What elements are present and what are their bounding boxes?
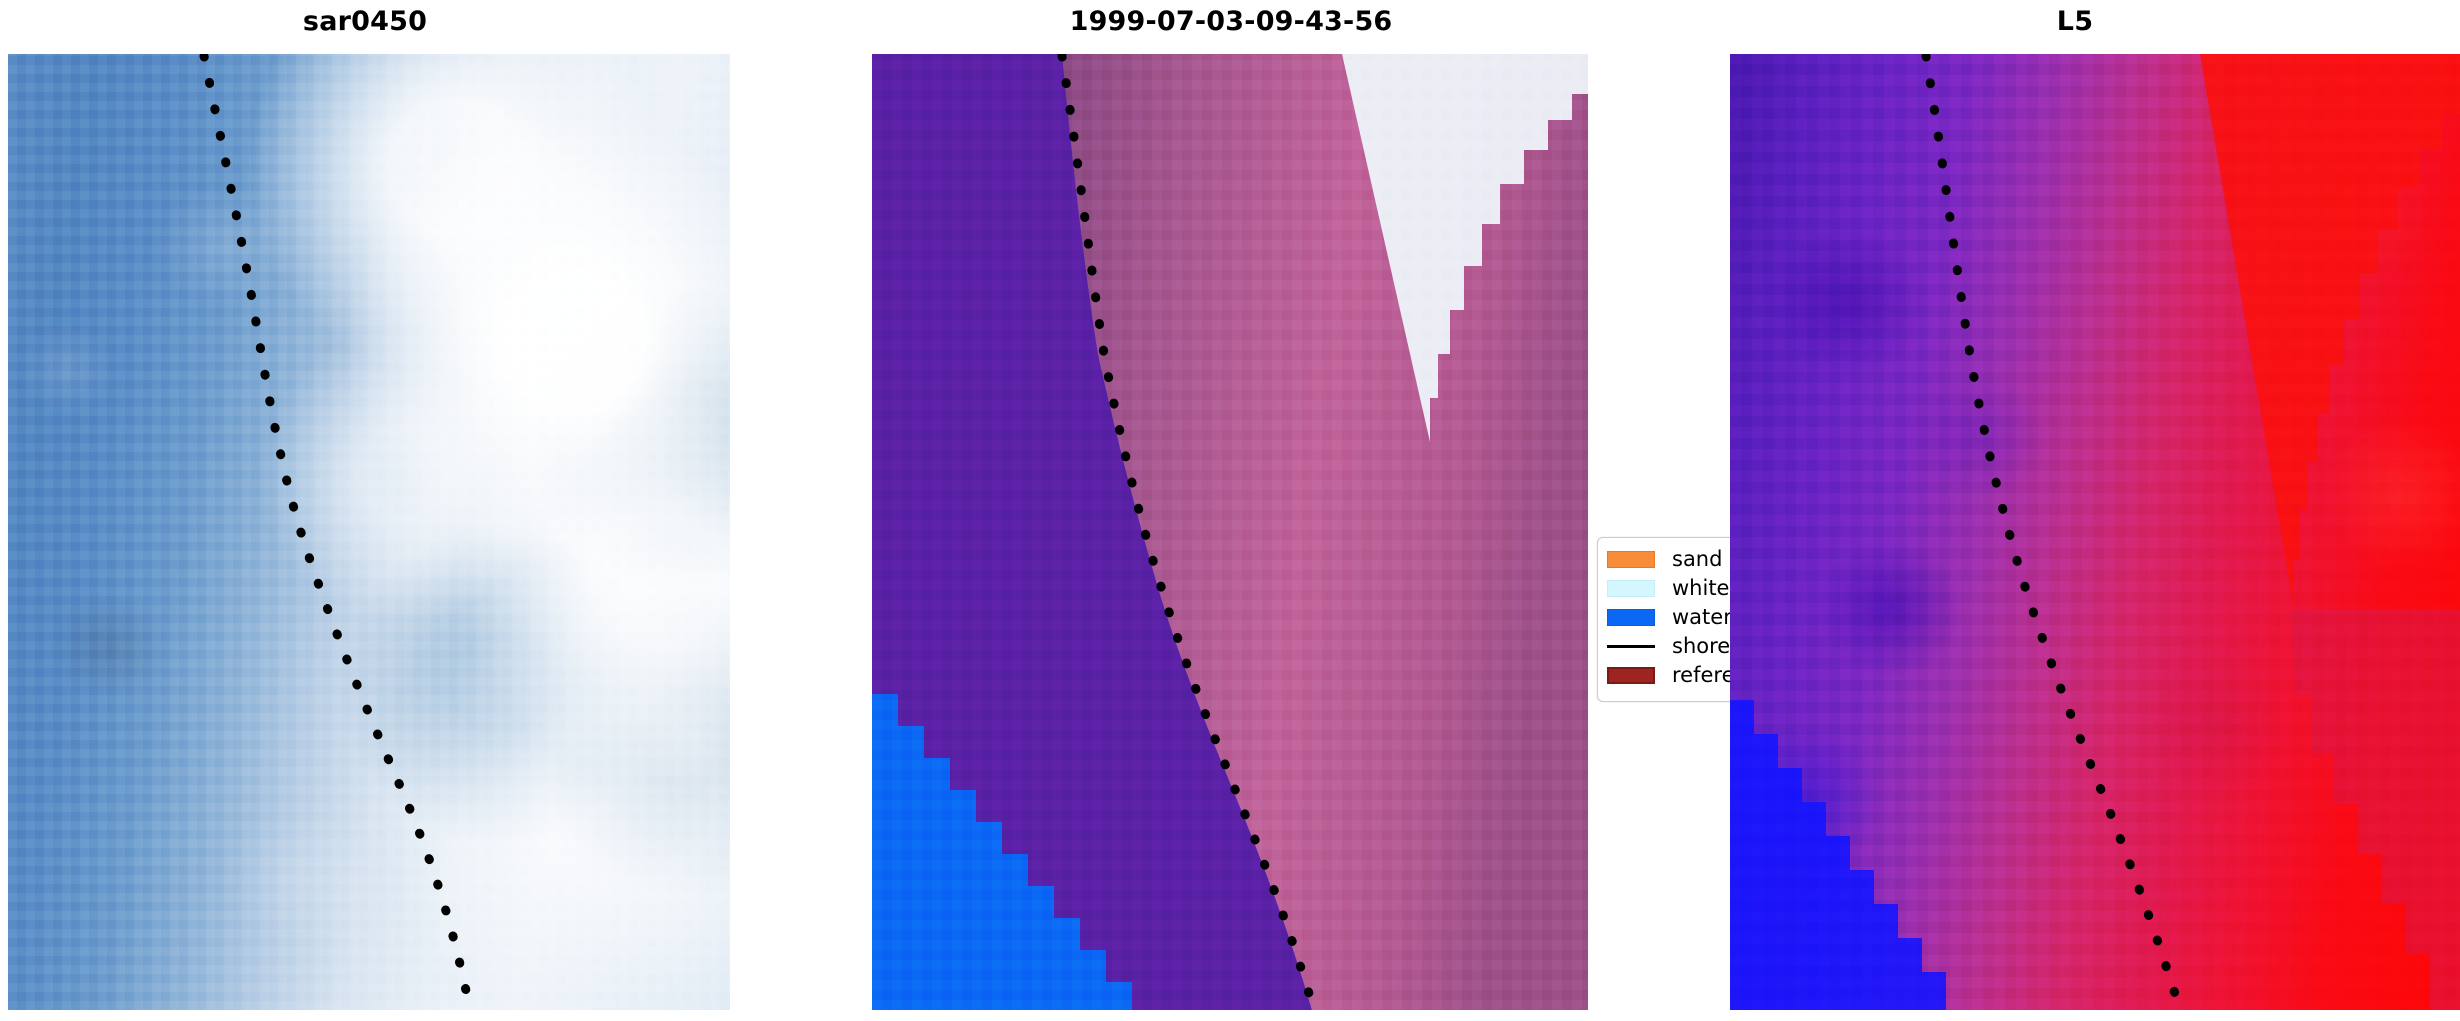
- shoreline-line-swatch: [1607, 645, 1655, 648]
- l5-image: [1730, 54, 2460, 1010]
- l5-texture-layer: [1730, 54, 2460, 1010]
- sar-speckle-layer: [8, 54, 730, 1010]
- classification-image: [872, 54, 1588, 1010]
- panel-title-classification: 1999-07-03-09-43-56: [866, 6, 1596, 37]
- classification-texture-layer: [872, 54, 1588, 1010]
- legend-label-water: water: [1672, 607, 1732, 628]
- panel-l5: L5: [1730, 0, 2460, 1021]
- legend-label-sand: sand: [1672, 549, 1722, 570]
- panel-sar0450: sar0450: [0, 0, 730, 1021]
- sand-swatch: [1607, 551, 1655, 568]
- sar-image: [8, 54, 730, 1010]
- figure-canvas: sar0450 1999-07-03-09-43-56: [0, 0, 2460, 1021]
- whitewater-swatch: [1607, 580, 1655, 597]
- panel-classification: 1999-07-03-09-43-56: [866, 0, 1596, 1021]
- reference-shoreline-swatch: [1607, 667, 1655, 684]
- water-swatch: [1607, 609, 1655, 626]
- panel-title-sar0450: sar0450: [0, 6, 730, 37]
- panel-title-l5: L5: [1730, 6, 2440, 37]
